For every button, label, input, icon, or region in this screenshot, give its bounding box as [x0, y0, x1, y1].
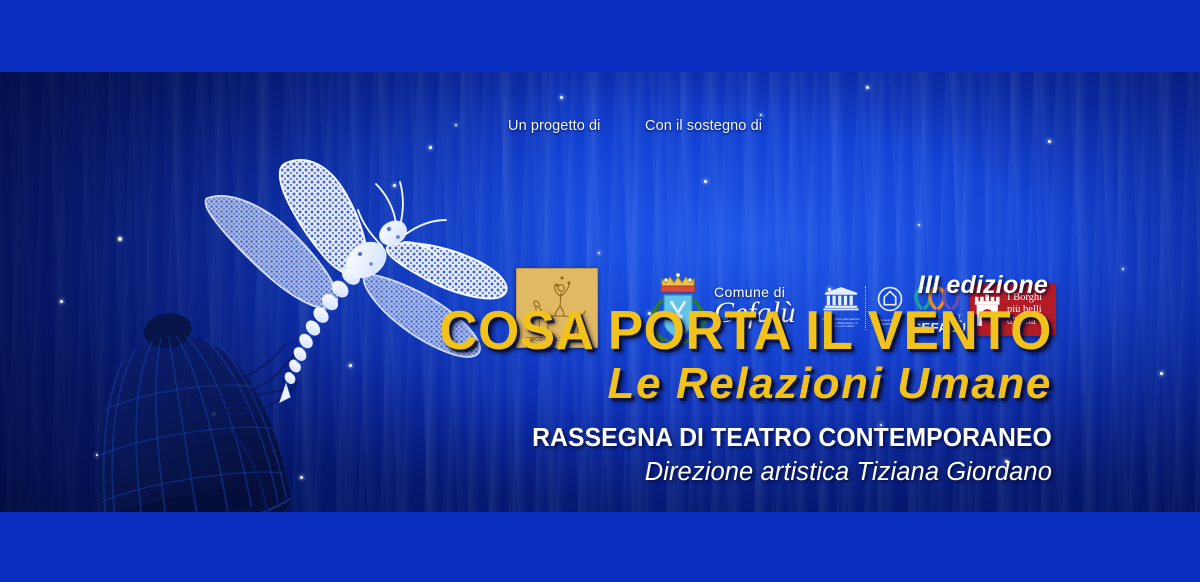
- event-poster: Un progetto di Con il sostegno di: [0, 0, 1200, 582]
- dragonfly-illustration: [190, 150, 510, 410]
- support-label: Con il sostegno di: [645, 118, 762, 134]
- top-color-band: [0, 0, 1200, 72]
- project-label: Un progetto di: [508, 118, 601, 134]
- page-title: COSA PORTA IL VENTO: [439, 303, 1052, 358]
- page-subtitle: Le Relazioni Umane: [608, 362, 1052, 406]
- edition-label: III edizione: [918, 271, 1048, 300]
- category-line: RASSEGNA DI TEATRO CONTEMPORANEO: [532, 424, 1052, 453]
- bottom-color-band: [0, 512, 1200, 582]
- artistic-direction-line: Direzione artistica Tiziana Giordano: [645, 458, 1052, 487]
